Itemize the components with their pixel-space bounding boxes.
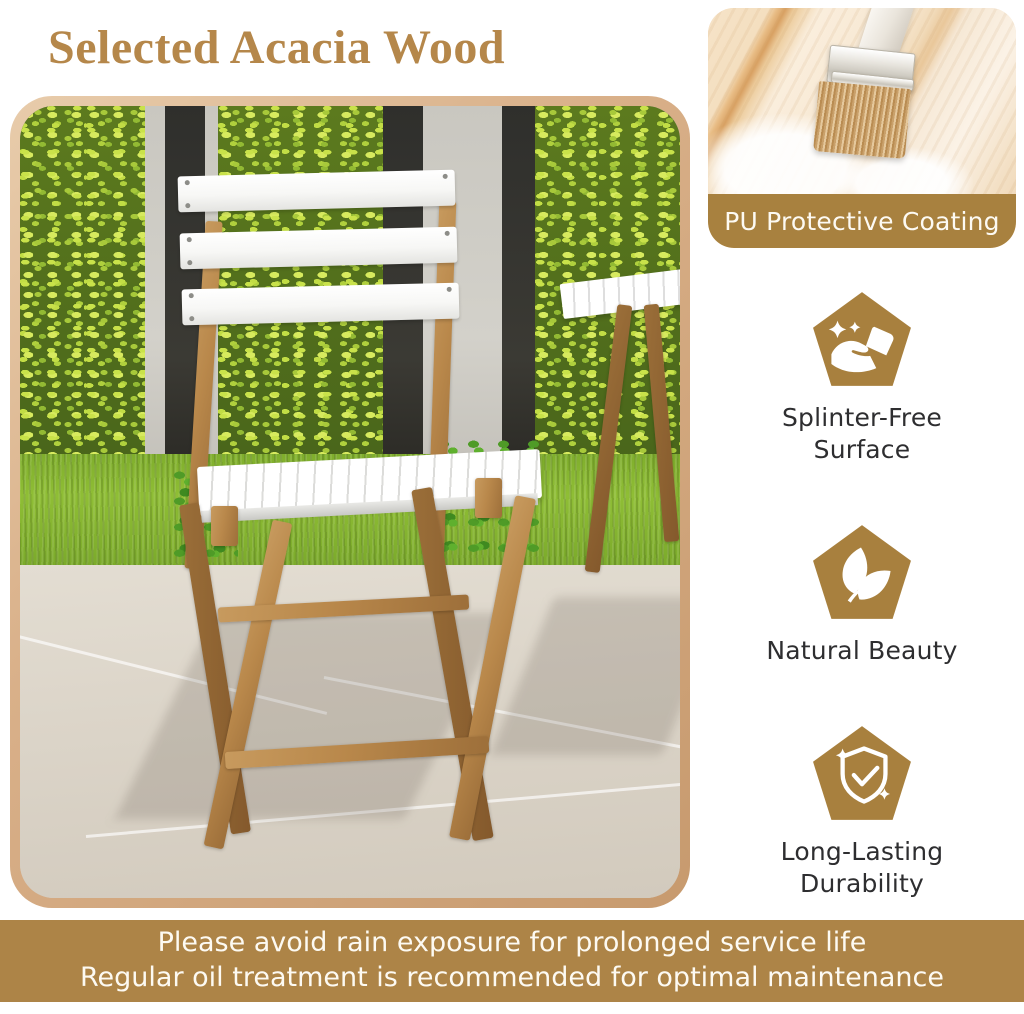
hero-product-photo [20, 106, 680, 898]
hero-image-frame [10, 96, 690, 908]
feature-label: Natural Beauty [766, 635, 957, 667]
chair-seat-bracket [211, 506, 237, 546]
feature-label: Long-Lasting Durability [781, 836, 944, 900]
leaf-icon [811, 523, 913, 621]
chair-back-slat [180, 226, 458, 269]
sparkle-hand-polish-icon [811, 290, 913, 388]
feature-item-splinter-free: Splinter-Free Surface [708, 290, 1016, 466]
feature-item-natural-beauty: Natural Beauty [708, 523, 1016, 667]
pu-coating-caption: PU Protective Coating [708, 194, 1016, 248]
chair-back-slat [182, 282, 460, 325]
feature-label: Splinter-Free Surface [782, 402, 942, 466]
product-infographic: Selected Acacia Wood [0, 0, 1024, 1014]
feature-list: Splinter-Free Surface Natural Beauty [708, 290, 1016, 900]
chair-back-slat [178, 170, 456, 213]
pu-coating-card: PU Protective Coating [708, 8, 1016, 248]
feature-item-durability: Long-Lasting Durability [708, 724, 1016, 900]
shield-check-icon [811, 724, 913, 822]
maintenance-notice-bar: Please avoid rain exposure for prolonged… [0, 920, 1024, 1002]
chair-seat-bracket [475, 478, 501, 518]
page-title: Selected Acacia Wood [48, 20, 505, 75]
notice-line-1: Please avoid rain exposure for prolonged… [158, 927, 867, 960]
notice-line-2: Regular oil treatment is recommended for… [80, 962, 944, 995]
paintbrush-bristles [813, 81, 911, 158]
